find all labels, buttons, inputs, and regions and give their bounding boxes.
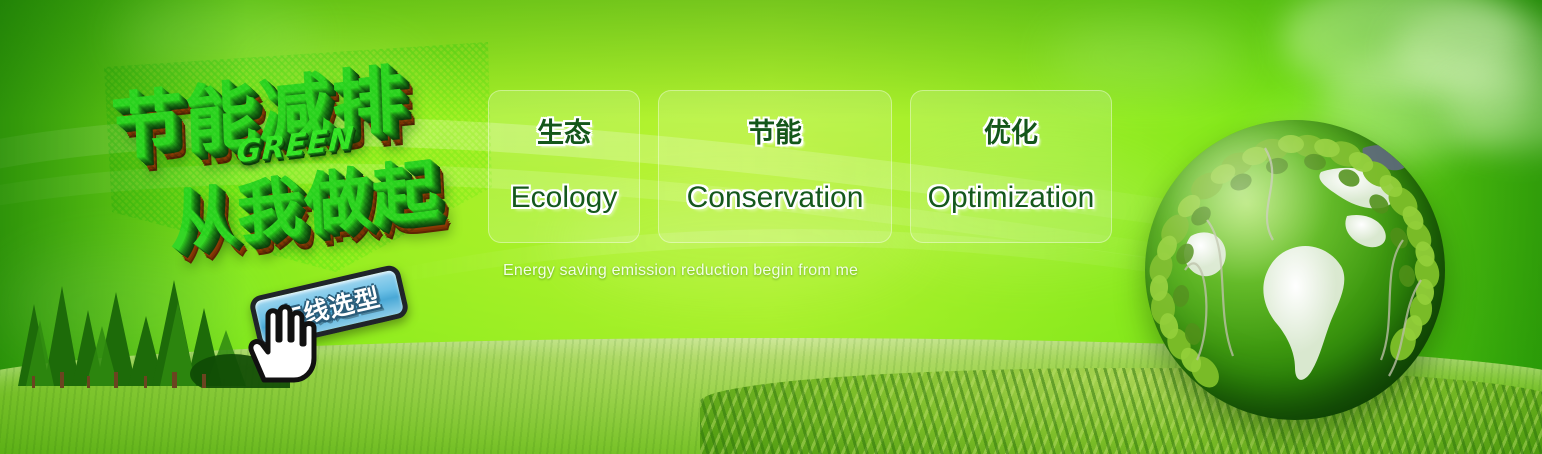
feature-card-en-label: Ecology	[511, 183, 618, 213]
leafy-globe-icon	[1145, 120, 1445, 420]
banner-tagline: Energy saving emission reduction begin f…	[503, 262, 858, 280]
feature-card-ecology[interactable]: 生态 Ecology	[488, 90, 640, 243]
feature-card-cn-label: 节能	[748, 120, 802, 147]
online-selection-cta[interactable]: 在线选型	[252, 276, 422, 352]
headline-3d-logo: 节能减排 GREEN 从我做起	[96, 32, 496, 282]
feature-card-optimization[interactable]: 优化 Optimization	[910, 90, 1112, 243]
feature-card-cn-label: 优化	[984, 120, 1038, 147]
feature-card-en-label: Optimization	[928, 183, 1095, 213]
feature-card-cn-label: 生态	[537, 120, 591, 147]
feature-card-conservation[interactable]: 节能 Conservation	[658, 90, 892, 243]
feature-card-en-label: Conservation	[687, 183, 864, 213]
feature-card-list: 生态 Ecology 节能 Conservation 优化 Optimizati…	[488, 90, 1112, 243]
hand-pointer-icon	[244, 300, 320, 384]
eco-promo-banner: 节能减排 GREEN 从我做起 在线选型 生态 Ecology 节能 Conse…	[0, 0, 1542, 454]
